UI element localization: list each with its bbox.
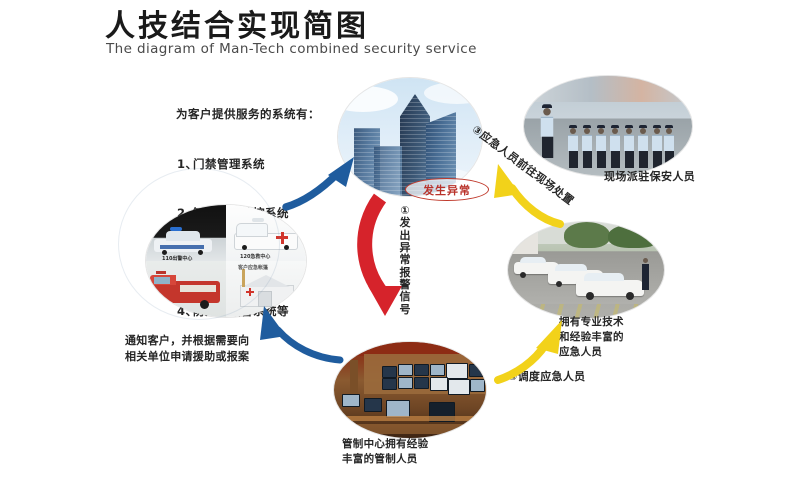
services-list-heading: 为客户提供服务的系统有：	[176, 106, 320, 122]
blue-arrow-to-building	[280, 145, 375, 220]
patrol-car-fleet-photo	[508, 222, 664, 318]
notify-client-caption: 通知客户，并根据需要向 相关单位申请援助或报案	[125, 333, 249, 364]
control-center-caption: 管制中心拥有经验 丰富的管制人员	[342, 437, 428, 467]
blue-arrow-to-emergency	[252, 300, 347, 372]
page-subtitle-english: The diagram of Man-Tech combined securit…	[106, 41, 477, 57]
decorative-ring	[118, 168, 280, 320]
diagram-canvas: 人技结合实现简图 The diagram of Man-Tech combine…	[0, 0, 802, 477]
guards-caption: 现场派驻保安人员	[604, 169, 695, 185]
yellow-arrow-to-guards	[488, 148, 578, 233]
control-center-room-photo	[334, 342, 486, 438]
yellow-arrow-to-responders	[492, 308, 584, 390]
